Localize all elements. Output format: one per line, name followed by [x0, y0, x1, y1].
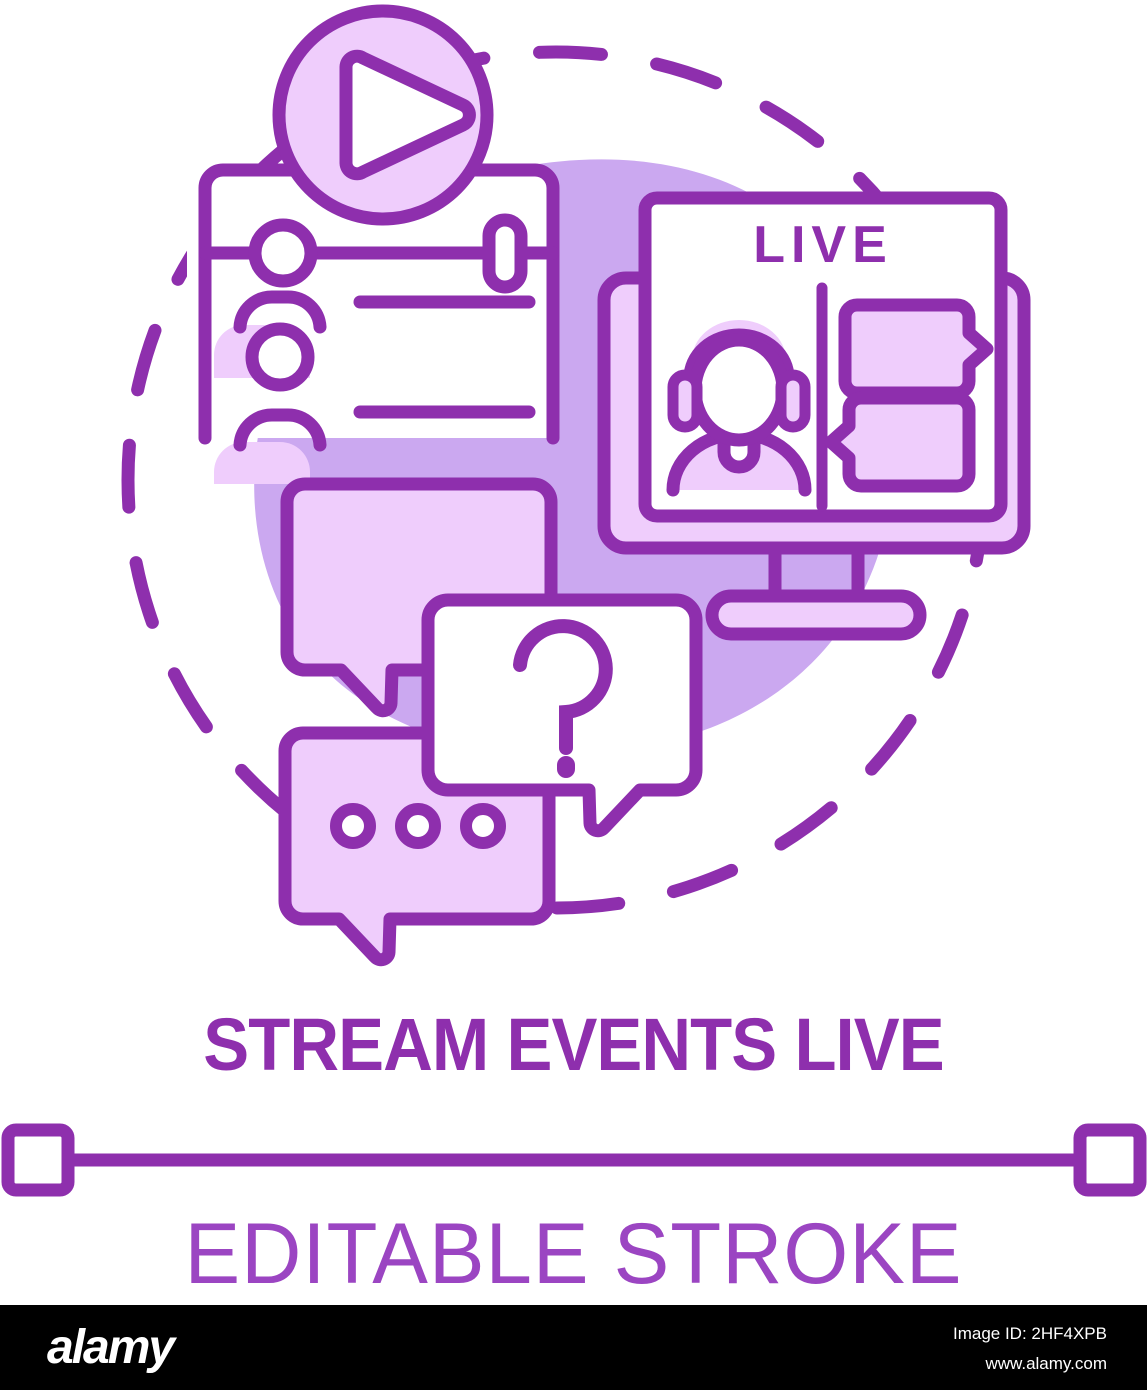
alamy-url: www.alamy.com	[953, 1349, 1107, 1379]
page-title: STREAM EVENTS LIVE	[40, 1002, 1107, 1088]
stroke-handle-left[interactable]	[8, 1130, 68, 1190]
watermark-bar: alamy Image ID: 2HF4XPB www.alamy.com	[0, 1305, 1147, 1390]
typing-dots	[336, 809, 500, 843]
live-label: LIVE	[753, 216, 893, 274]
editable-stroke-caption: EDITABLE STROKE	[0, 1204, 1147, 1304]
stroke-handle-right[interactable]	[1080, 1130, 1140, 1190]
monitor-chat-bubble-2	[831, 398, 969, 486]
watermark-meta: Image ID: 2HF4XPB www.alamy.com	[953, 1319, 1107, 1379]
alamy-logo: alamy	[47, 1322, 173, 1374]
concept-icon-canvas: LIVE	[0, 0, 1147, 1390]
image-id-label: Image ID: 2HF4XPB	[953, 1319, 1107, 1349]
play-button-circle[interactable]	[279, 11, 487, 219]
stroke-width-rule	[0, 1118, 1147, 1202]
concept-title: STREAM EVENTS LIVE	[0, 1002, 1147, 1088]
subtitle: EDITABLE STROKE	[17, 1204, 1130, 1304]
monitor-chat-bubble-1	[845, 305, 987, 393]
illustration: LIVE	[0, 0, 1147, 1000]
